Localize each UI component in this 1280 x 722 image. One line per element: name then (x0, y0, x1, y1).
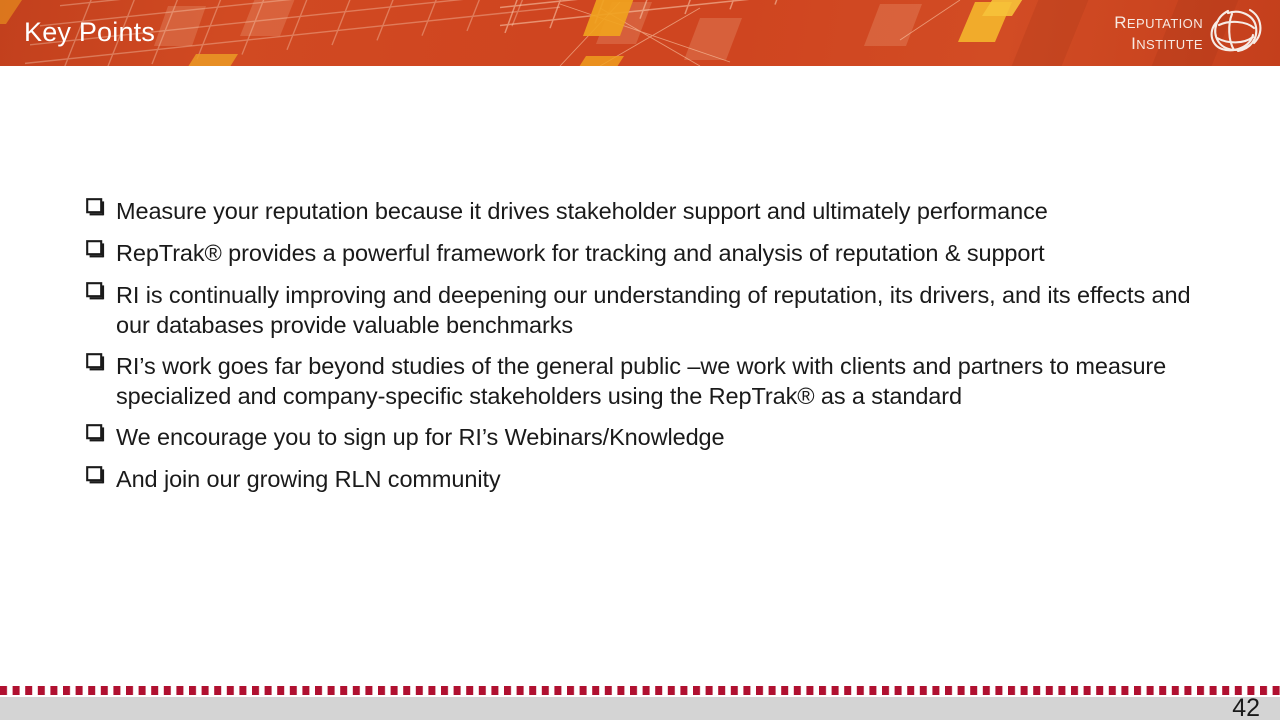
list-item: And join our growing RLN community (86, 464, 1216, 494)
bullet-list: Measure your reputation because it drive… (86, 196, 1216, 506)
list-item: RepTrak® provides a powerful framework f… (86, 238, 1216, 268)
footer-band (0, 697, 1280, 720)
list-item-text: RI’s work goes far beyond studies of the… (116, 351, 1216, 411)
logo-rest-eputation: EPUTATION (1127, 16, 1203, 31)
slide-header: Key Points REPUTATION INSTITUTE (0, 0, 1280, 66)
footer-dotted-rule (0, 686, 1280, 695)
globe-icon (1206, 7, 1268, 57)
list-item: RI’s work goes far beyond studies of the… (86, 351, 1216, 411)
logo-line-reputation: REPUTATION (1114, 14, 1203, 31)
list-item-text: RI is continually improving and deepenin… (116, 280, 1216, 340)
list-item-text: Measure your reputation because it drive… (116, 196, 1216, 226)
list-item-text: We encourage you to sign up for RI’s Web… (116, 422, 1216, 452)
page-number: 42 (1232, 694, 1260, 722)
list-item: RI is continually improving and deepenin… (86, 280, 1216, 340)
reputation-institute-logo: REPUTATION INSTITUTE (1114, 9, 1268, 57)
logo-rest-nstitute: NSTITUTE (1136, 37, 1203, 52)
hollow-square-bullet-icon (86, 423, 116, 442)
list-item-text: And join our growing RLN community (116, 464, 1216, 494)
logo-line-institute: INSTITUTE (1131, 35, 1203, 52)
hollow-square-bullet-icon (86, 239, 116, 258)
hollow-square-bullet-icon (86, 281, 116, 300)
logo-wordmark: REPUTATION INSTITUTE (1114, 14, 1203, 52)
slide: Key Points REPUTATION INSTITUTE (0, 0, 1280, 720)
hollow-square-bullet-icon (86, 352, 116, 371)
list-item: We encourage you to sign up for RI’s Web… (86, 422, 1216, 452)
list-item-text: RepTrak® provides a powerful framework f… (116, 238, 1216, 268)
hollow-square-bullet-icon (86, 465, 116, 484)
header-grid-pattern (0, 0, 1280, 66)
list-item: Measure your reputation because it drive… (86, 196, 1216, 226)
hollow-square-bullet-icon (86, 197, 116, 216)
page-title: Key Points (24, 15, 155, 49)
logo-cap-r: R (1114, 13, 1127, 32)
